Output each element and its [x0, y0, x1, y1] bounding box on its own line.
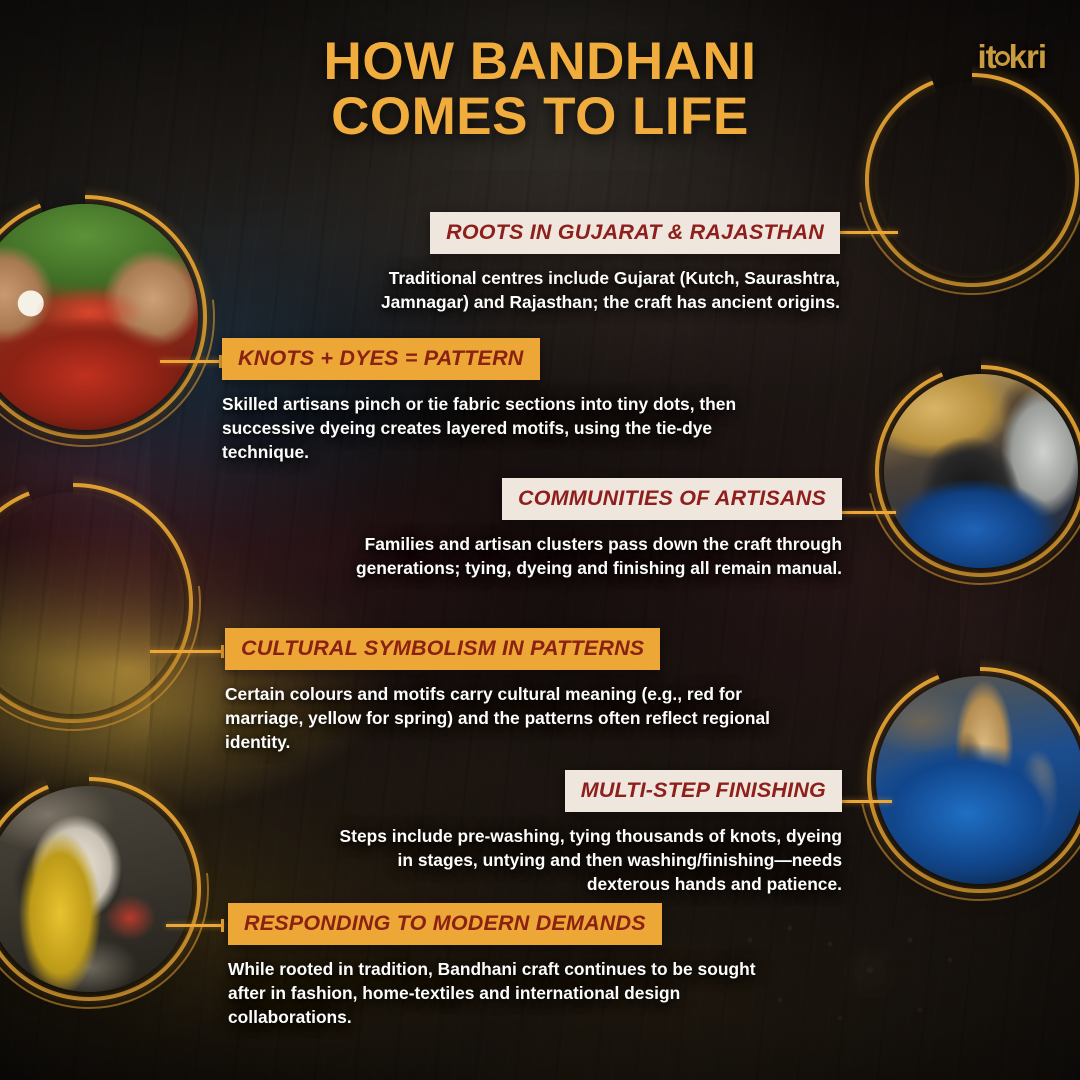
section-heading-communities[interactable]: COMMUNITIES OF ARTISANS [502, 478, 842, 520]
photo-women-tying-cream-fabric [0, 492, 184, 714]
section-body-symbolism: Certain colours and motifs carry cultura… [225, 683, 770, 755]
section-heading-roots[interactable]: ROOTS IN GUJARAT & RAJASTHAN [430, 212, 840, 254]
photo-artisan-lifting-yellow-fabric [0, 786, 192, 992]
connector-line-communities [838, 511, 896, 514]
section-modern-demands: RESPONDING TO MODERN DEMANDS While roote… [228, 903, 788, 1030]
section-body-finishing: Steps include pre-washing, tying thousan… [320, 825, 842, 897]
page-title: HOW BANDHANI COMES TO LIFE [0, 34, 1080, 144]
section-roots: ROOTS IN GUJARAT & RAJASTHAN Traditional… [372, 212, 840, 315]
connector-line-knots [160, 360, 222, 363]
section-symbolism: CULTURAL SYMBOLISM IN PATTERNS Certain c… [225, 628, 770, 755]
itokri-logo[interactable]: it kri [977, 40, 1046, 73]
photo-disc [884, 374, 1078, 568]
photo-artisan-dyeing-blue-tub [884, 374, 1078, 568]
photo-artwork [0, 204, 198, 430]
photo-artwork [0, 492, 184, 714]
connector-line-symbolism [150, 650, 224, 653]
page-title-line-1: HOW BANDHANI [324, 32, 757, 91]
section-heading-finishing[interactable]: MULTI-STEP FINISHING [565, 770, 842, 812]
section-body-modern-demands: While rooted in tradition, Bandhani craf… [228, 958, 788, 1030]
photo-fabric-in-blue-dye-vat [876, 676, 1080, 884]
photo-disc [0, 204, 198, 430]
connector-tick [221, 645, 224, 658]
section-communities: COMMUNITIES OF ARTISANS Families and art… [352, 478, 842, 581]
logo-text-tail: kri [1009, 40, 1046, 73]
photo-artwork [0, 786, 192, 992]
connector-tick [221, 919, 224, 932]
page-title-line-2: COMES TO LIFE [0, 89, 1080, 144]
section-body-knots-dyes: Skilled artisans pinch or tie fabric sec… [222, 393, 742, 465]
photo-disc [0, 786, 192, 992]
photo-hands-tying-red-fabric [0, 204, 198, 430]
section-body-communities: Families and artisan clusters pass down … [352, 533, 842, 581]
photo-artwork [884, 374, 1078, 568]
photo-artwork [876, 676, 1080, 884]
photo-disc [876, 676, 1080, 884]
logo-text-lead: it [977, 40, 995, 73]
section-heading-knots-dyes[interactable]: KNOTS + DYES = PATTERN [222, 338, 540, 380]
section-knots-dyes: KNOTS + DYES = PATTERN Skilled artisans … [222, 338, 742, 465]
connector-line-roots [836, 231, 898, 234]
section-body-roots: Traditional centres include Gujarat (Kut… [372, 267, 840, 315]
photo-disc [0, 492, 184, 714]
connector-line-finishing [836, 800, 892, 803]
section-heading-symbolism[interactable]: CULTURAL SYMBOLISM IN PATTERNS [225, 628, 660, 670]
section-heading-modern-demands[interactable]: RESPONDING TO MODERN DEMANDS [228, 903, 662, 945]
section-finishing: MULTI-STEP FINISHING Steps include pre-w… [320, 770, 842, 897]
logo-circle-icon [995, 51, 1010, 66]
connector-line-modern [166, 924, 224, 927]
